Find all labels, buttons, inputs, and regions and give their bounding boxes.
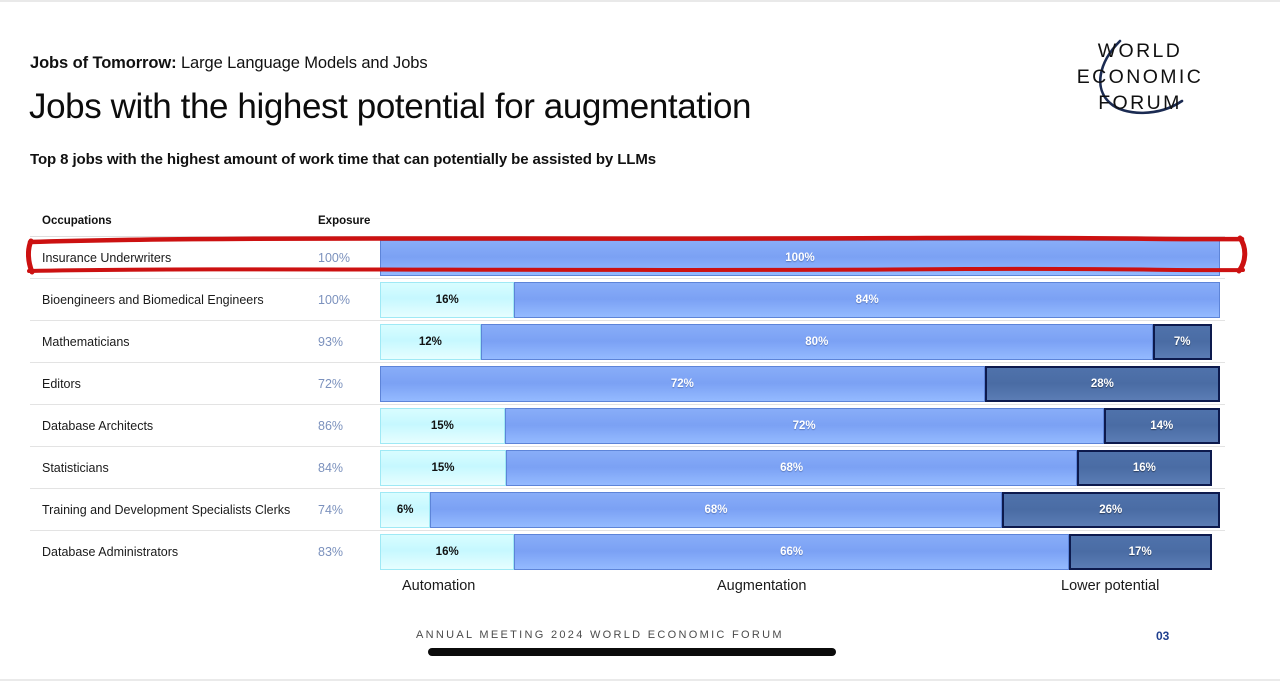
bar-segment-augmentation: 84% (514, 282, 1220, 318)
exposure-value: 74% (318, 503, 343, 517)
exposure-value: 93% (318, 335, 343, 349)
occupation-label: Database Architects (42, 419, 153, 433)
table-row: Insurance Underwriters100%100% (30, 236, 1225, 278)
table-row: Bioengineers and Biomedical Engineers100… (30, 278, 1225, 320)
page-title: Jobs with the highest potential for augm… (29, 87, 751, 127)
stacked-bar: 16%84% (380, 282, 1220, 318)
table-row: Database Architects86%15%72%14% (30, 404, 1225, 446)
bar-segment-lower-potential: 14% (1104, 408, 1220, 444)
bar-segment-augmentation: 68% (430, 492, 1001, 528)
exposure-value: 100% (318, 251, 350, 265)
data-table: Occupations Exposure Insurance Underwrit… (30, 210, 1225, 572)
exposure-value: 72% (318, 377, 343, 391)
stacked-bar: 100% (380, 240, 1220, 276)
slide: Jobs of Tomorrow: Large Language Models … (0, 0, 1280, 681)
bar-segment-augmentation: 72% (380, 366, 985, 402)
exposure-value: 83% (318, 545, 343, 559)
stacked-bar: 72%28% (380, 366, 1220, 402)
table-row: Mathematicians93%12%80%7% (30, 320, 1225, 362)
stacked-bar: 15%72%14% (380, 408, 1220, 444)
logo-line-1: WORLD (1098, 40, 1183, 62)
bar-segment-lower-potential: 7% (1153, 324, 1212, 360)
bar-segment-lower-potential: 17% (1069, 534, 1212, 570)
logo-line-3: FORUM (1098, 92, 1182, 114)
table-row: Database Administrators83%16%66%17% (30, 530, 1225, 572)
eyebrow-rest: Large Language Models and Jobs (177, 54, 428, 72)
exposure-value: 86% (318, 419, 343, 433)
occupation-label: Statisticians (42, 461, 109, 475)
bar-segment-automation: 16% (380, 534, 514, 570)
column-header-exposure: Exposure (318, 215, 370, 227)
stacked-bar: 16%66%17% (380, 534, 1220, 570)
bar-segment-automation: 15% (380, 408, 505, 444)
legend-lower-potential: Lower potential (1061, 578, 1159, 594)
bar-segment-lower-potential: 26% (1002, 492, 1220, 528)
bar-segment-augmentation: 66% (514, 534, 1068, 570)
table-body: Insurance Underwriters100%100%Bioenginee… (30, 236, 1225, 572)
legend-automation: Automation (402, 578, 475, 594)
bar-segment-automation: 16% (380, 282, 514, 318)
bar-segment-automation: 15% (380, 450, 506, 486)
bar-segment-augmentation: 68% (506, 450, 1077, 486)
wef-logo: WORLD ECONOMIC FORUM (1058, 33, 1223, 123)
occupation-label: Editors (42, 377, 81, 391)
occupation-label: Database Administrators (42, 545, 178, 559)
logo-line-2: ECONOMIC (1077, 66, 1203, 88)
occupation-label: Bioengineers and Biomedical Engineers (42, 293, 264, 307)
bar-segment-lower-potential: 16% (1077, 450, 1211, 486)
eyebrow-strong: Jobs of Tomorrow: (30, 54, 177, 72)
bar-segment-lower-potential: 28% (985, 366, 1220, 402)
footer: ANNUAL MEETING 2024 WORLD ECONOMIC FORUM… (0, 621, 1280, 681)
bar-segment-automation: 12% (380, 324, 481, 360)
chart-legend: Automation Augmentation Lower potential (350, 578, 1220, 600)
occupation-label: Mathematicians (42, 335, 130, 349)
table-row: Statisticians84%15%68%16% (30, 446, 1225, 488)
table-row: Editors72%72%28% (30, 362, 1225, 404)
bar-segment-augmentation: 80% (481, 324, 1153, 360)
footer-text: ANNUAL MEETING 2024 WORLD ECONOMIC FORUM (416, 629, 784, 641)
footer-bar (428, 648, 836, 656)
column-header-occupations: Occupations (42, 215, 112, 227)
bar-segment-augmentation: 100% (380, 240, 1220, 276)
page-subtitle: Top 8 jobs with the highest amount of wo… (30, 151, 656, 168)
occupation-label: Training and Development Specialists Cle… (42, 503, 290, 517)
stacked-bar: 15%68%16% (380, 450, 1220, 486)
page-number: 03 (1156, 629, 1169, 643)
table-row: Training and Development Specialists Cle… (30, 488, 1225, 530)
table-header: Occupations Exposure (30, 210, 1225, 236)
legend-augmentation: Augmentation (717, 578, 806, 594)
stacked-bar: 12%80%7% (380, 324, 1220, 360)
bar-segment-automation: 6% (380, 492, 430, 528)
bar-segment-augmentation: 72% (505, 408, 1104, 444)
exposure-value: 84% (318, 461, 343, 475)
exposure-value: 100% (318, 293, 350, 307)
occupation-label: Insurance Underwriters (42, 251, 171, 265)
stacked-bar: 6%68%26% (380, 492, 1220, 528)
top-divider (0, 0, 1280, 2)
eyebrow: Jobs of Tomorrow: Large Language Models … (30, 54, 428, 73)
